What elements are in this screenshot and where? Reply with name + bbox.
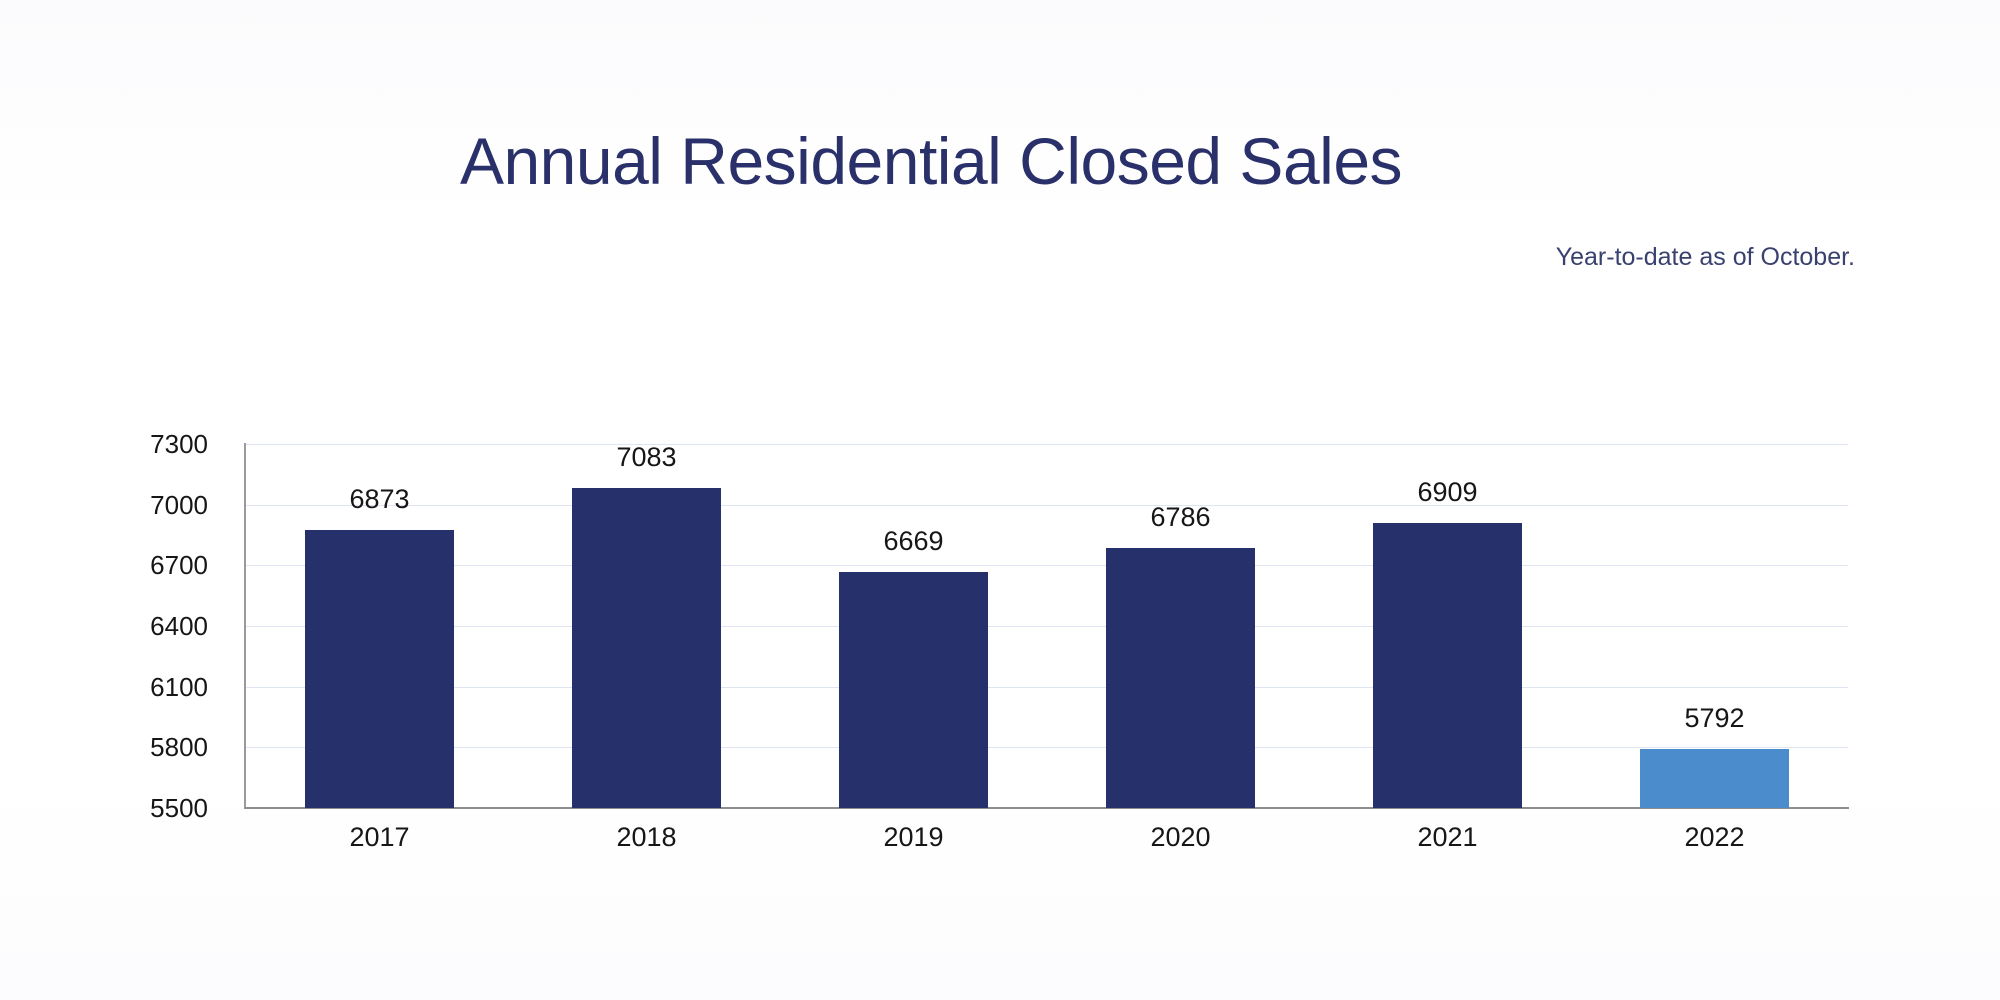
bar-value-label: 6669: [824, 528, 1004, 555]
x-axis-tick-label: 2021: [1358, 824, 1538, 851]
gridline: [246, 565, 1848, 566]
bar[interactable]: [305, 530, 454, 808]
y-axis-tick-label: 7000: [0, 492, 226, 518]
gridline: [246, 747, 1848, 748]
y-axis-tick-label: 6100: [0, 674, 226, 700]
bar[interactable]: [839, 572, 988, 808]
gridline: [246, 626, 1848, 627]
bar[interactable]: [1373, 523, 1522, 808]
x-axis-tick-label: 2022: [1625, 824, 1805, 851]
x-axis-tick-label: 2018: [557, 824, 737, 851]
bar-chart: 5500580061006400670070007300 20172018201…: [0, 0, 2000, 1000]
bar[interactable]: [1640, 749, 1789, 808]
x-axis-tick-label: 2019: [824, 824, 1004, 851]
bar-value-label: 6909: [1358, 479, 1538, 506]
gridline: [246, 444, 1848, 445]
x-axis-tick-label: 2020: [1091, 824, 1271, 851]
bar-value-label: 6786: [1091, 504, 1271, 531]
plot-area: [246, 444, 1848, 808]
bar[interactable]: [1106, 548, 1255, 808]
gridline: [246, 505, 1848, 506]
bar-value-label: 6873: [290, 486, 470, 513]
y-axis-tick-label: 6400: [0, 613, 226, 639]
bar-value-label: 7083: [557, 444, 737, 471]
y-axis-tick-label: 5800: [0, 734, 226, 760]
bar[interactable]: [572, 488, 721, 808]
y-axis-tick-label: 6700: [0, 552, 226, 578]
bar-value-label: 5792: [1625, 705, 1805, 732]
y-axis-tick-label: 5500: [0, 795, 226, 821]
gridline: [246, 687, 1848, 688]
x-axis-tick-label: 2017: [290, 824, 470, 851]
y-axis-tick-label: 7300: [0, 431, 226, 457]
